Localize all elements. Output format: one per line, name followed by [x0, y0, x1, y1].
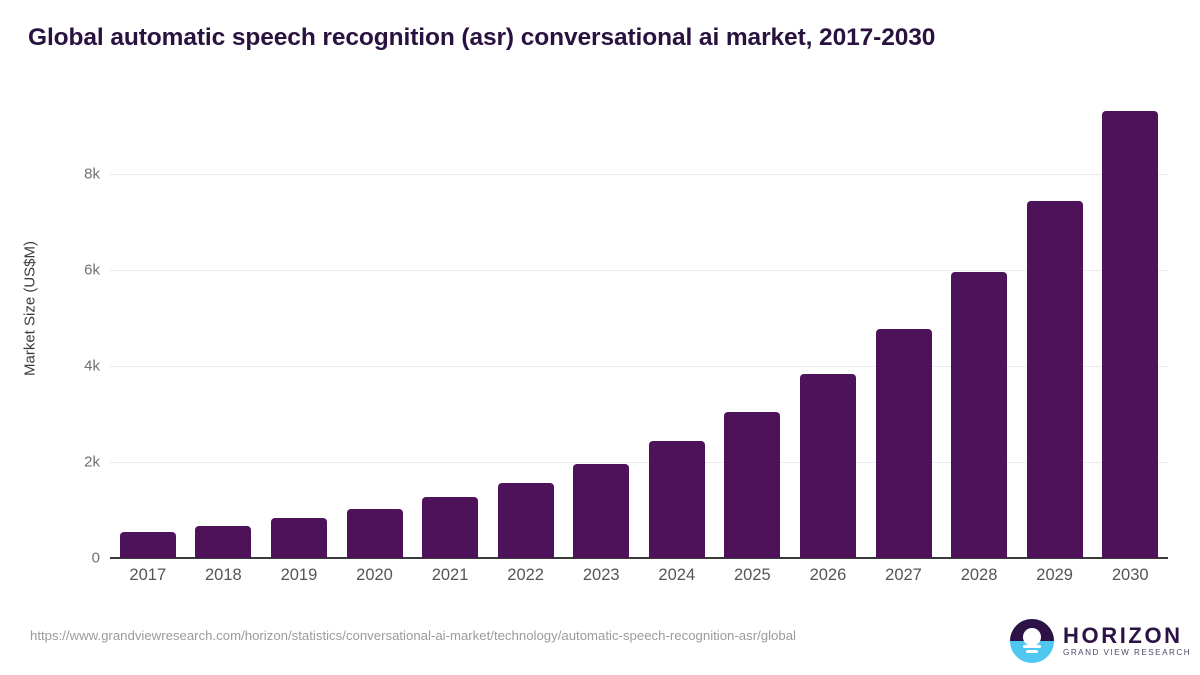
x-tick-label-2022: 2022 — [488, 566, 564, 585]
x-tick-label-2019: 2019 — [261, 566, 337, 585]
x-tick-label-2030: 2030 — [1092, 566, 1168, 585]
y-axis-title: Market Size (US$M) — [22, 129, 39, 489]
logo-subtitle: GRAND VIEW RESEARCH — [1063, 647, 1191, 658]
logo-name: HORIZON — [1063, 624, 1191, 647]
x-tick-label-2020: 2020 — [337, 566, 413, 585]
y-tick-label: 6k — [54, 262, 100, 279]
x-tick-label-2018: 2018 — [185, 566, 261, 585]
horizon-logo: HORIZON GRAND VIEW RESEARCH — [1010, 619, 1191, 663]
y-tick-label: 4k — [54, 358, 100, 375]
bar-2025[interactable] — [724, 412, 780, 558]
bar-chart-plot: Market Size (US$M) 02k4k6k8k 20172018201… — [0, 0, 1200, 600]
bar-2018[interactable] — [195, 526, 251, 558]
bar-2019[interactable] — [271, 518, 327, 558]
x-tick-label-2026: 2026 — [790, 566, 866, 585]
x-tick-label-2028: 2028 — [941, 566, 1017, 585]
y-tick-label: 0 — [54, 550, 100, 567]
x-tick-label-2024: 2024 — [639, 566, 715, 585]
x-tick-label-2021: 2021 — [412, 566, 488, 585]
y-axis-ticks: 02k4k6k8k — [44, 0, 100, 600]
source-url[interactable]: https://www.grandviewresearch.com/horizo… — [30, 627, 930, 645]
chart-page: Global automatic speech recognition (asr… — [0, 0, 1200, 675]
footer: https://www.grandviewresearch.com/horizo… — [0, 600, 1200, 675]
y-tick-label: 2k — [54, 454, 100, 471]
bar-2020[interactable] — [347, 509, 403, 558]
horizon-sunrise-icon — [1010, 619, 1054, 663]
bar-2024[interactable] — [649, 441, 705, 558]
bar-2022[interactable] — [498, 483, 554, 558]
bar-series — [110, 0, 1168, 558]
x-tick-label-2029: 2029 — [1017, 566, 1093, 585]
bar-2029[interactable] — [1027, 201, 1083, 558]
x-tick-label-2017: 2017 — [110, 566, 186, 585]
x-tick-label-2023: 2023 — [563, 566, 639, 585]
bar-2021[interactable] — [422, 497, 478, 558]
bar-2023[interactable] — [573, 464, 629, 558]
bar-2027[interactable] — [876, 329, 932, 558]
bar-2017[interactable] — [120, 532, 176, 558]
logo-wordmark: HORIZON GRAND VIEW RESEARCH — [1063, 624, 1191, 658]
x-tick-label-2027: 2027 — [866, 566, 942, 585]
bar-2026[interactable] — [800, 374, 856, 558]
bar-2030[interactable] — [1102, 111, 1158, 558]
bar-2028[interactable] — [951, 272, 1007, 558]
x-tick-label-2025: 2025 — [714, 566, 790, 585]
y-tick-label: 8k — [54, 166, 100, 183]
